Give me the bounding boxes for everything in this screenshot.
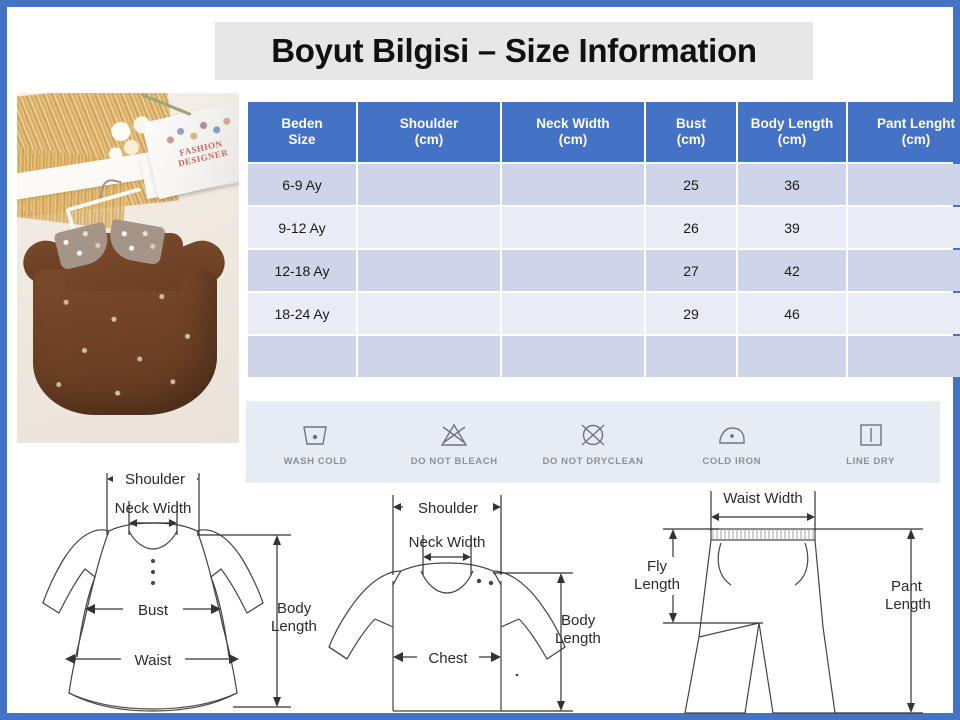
wash-cold-icon [298,418,332,452]
cell-body-length: 36 [738,164,846,205]
label-chest: Chest [428,650,468,667]
cell-body-length [738,336,846,377]
cell-pant-length [848,336,960,377]
label-fly-length-line1: Fly [647,558,667,575]
cell-shoulder [358,293,500,334]
cell-bust: 29 [646,293,736,334]
cell-size: 18-24 Ay [248,293,356,334]
cell-shoulder [358,336,500,377]
header-line1: Body Length [751,116,834,131]
cell-bust: 27 [646,250,736,291]
dress-measurement-diagram: Shoulder Neck Width Bust Waist [25,451,325,719]
label-neck-width: Neck Width [115,500,192,517]
care-item-cold-iron: COLD IRON [672,418,792,467]
label-pant-length-line2: Length [885,596,931,613]
header-line1: Bust [676,116,706,131]
cell-size [248,336,356,377]
column-header-neck-width: Neck Width (cm) [502,102,644,162]
care-instructions-band: WASH COLD DO NOT BLEACH DO NOT DRYCL [246,401,940,483]
cell-neck-width [502,336,644,377]
cell-bust: 25 [646,164,736,205]
shirt-measurement-diagram: Shoulder Neck Width Chest [321,485,619,719]
page-title-bar: Boyut Bilgisi – Size Information [215,22,813,80]
table-row: 6-9 Ay 25 36 [248,164,960,205]
cell-body-length: 46 [738,293,846,334]
cell-size: 6-9 Ay [248,164,356,205]
label-waist: Waist [135,652,173,669]
cell-pant-length [848,293,960,334]
dress-embroidery [33,271,217,413]
label-neck-width: Neck Width [409,534,486,551]
cell-pant-length [848,250,960,291]
care-label: LINE DRY [846,456,895,467]
cell-neck-width [502,164,644,205]
white-flowers [101,113,167,179]
header-line2: (cm) [559,132,588,147]
care-item-line-dry: LINE DRY [811,418,931,467]
label-shoulder: Shoulder [418,500,478,517]
column-header-shoulder: Shoulder (cm) [358,102,500,162]
cell-bust: 26 [646,207,736,248]
care-label: DO NOT BLEACH [411,456,498,467]
page-title: Boyut Bilgisi – Size Information [271,32,756,70]
column-header-beden-size: Beden Size [248,102,356,162]
cell-shoulder [358,207,500,248]
pants-measurement-diagram: Waist Width Fly Length Pant Length [623,477,953,719]
table-header-row: Beden Size Shoulder (cm) Neck Width (cm)… [248,102,960,162]
table-row: 18-24 Ay 29 46 [248,293,960,334]
label-body-length-line1: Body [561,612,596,629]
label-body-length-line2: Length [271,618,317,635]
label-shoulder: Shoulder [125,471,185,488]
header-line2: (cm) [415,132,444,147]
header-line1: Beden [281,116,322,131]
header-line2: (cm) [677,132,706,147]
care-item-do-not-dryclean: DO NOT DRYCLEAN [533,418,653,467]
column-header-body-length: Body Length (cm) [738,102,846,162]
header-line2: Size [288,132,315,147]
label-pant-length-line1: Pant [891,578,923,595]
cell-pant-length [848,207,960,248]
do-not-bleach-icon [437,418,471,452]
cell-neck-width [502,207,644,248]
size-table: Beden Size Shoulder (cm) Neck Width (cm)… [246,100,960,379]
cell-neck-width [502,293,644,334]
header-line1: Pant Lenght [877,116,955,131]
table-row: 9-12 Ay 26 39 [248,207,960,248]
label-waist-width: Waist Width [723,490,802,507]
label-body-length-line2: Length [555,630,601,647]
care-item-do-not-bleach: DO NOT BLEACH [394,418,514,467]
cell-neck-width [502,250,644,291]
cold-iron-icon [715,418,749,452]
table-row [248,336,960,377]
label-fly-length-line2: Length [634,576,680,593]
column-header-bust: Bust (cm) [646,102,736,162]
cell-shoulder [358,250,500,291]
label-body-length-line1: Body [277,600,312,617]
header-line2: (cm) [778,132,807,147]
header-line1: Neck Width [536,116,609,131]
cell-pant-length [848,164,960,205]
line-dry-icon [854,418,888,452]
cell-body-length: 39 [738,207,846,248]
care-label: DO NOT DRYCLEAN [542,456,643,467]
table-row: 12-18 Ay 27 42 [248,250,960,291]
cell-body-length: 42 [738,250,846,291]
cell-size: 9-12 Ay [248,207,356,248]
cell-bust [646,336,736,377]
header-line1: Shoulder [400,116,459,131]
care-label: COLD IRON [702,456,761,467]
cell-shoulder [358,164,500,205]
product-photo: FASHION DESIGNER [17,93,239,443]
header-line2: (cm) [902,132,931,147]
column-header-pant-length: Pant Lenght (cm) [848,102,960,162]
label-bust: Bust [138,602,169,619]
do-not-dryclean-icon [576,418,610,452]
size-information-page: Boyut Bilgisi – Size Information FASHION… [0,0,960,720]
cell-size: 12-18 Ay [248,250,356,291]
